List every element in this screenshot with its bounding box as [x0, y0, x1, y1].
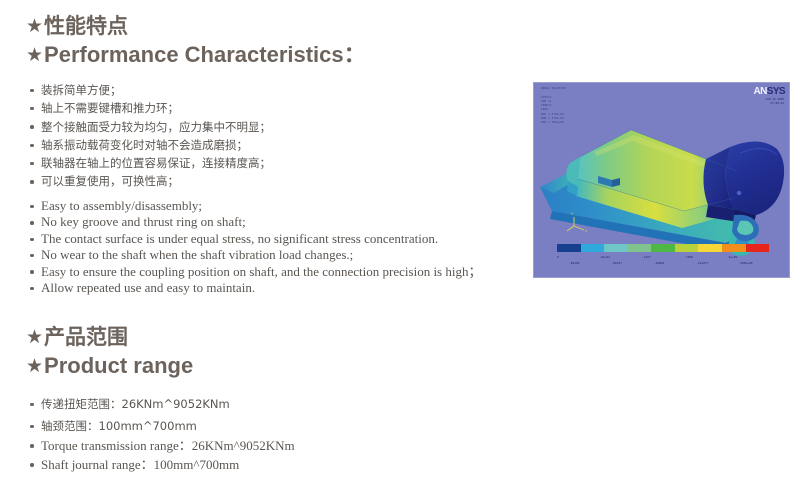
- ansys-logo: ANSYS: [754, 86, 785, 97]
- figure-colorbar: [557, 244, 769, 252]
- ansys-fea-figure: X Y NODAL SOLUTION STEP=1 SUB =1 TIME=1 …: [533, 82, 790, 278]
- figure-canvas: X Y NODAL SOLUTION STEP=1 SUB =1 TIME=1 …: [534, 83, 789, 277]
- colorbar-label: .1327: [642, 255, 684, 259]
- colorbar-band: [628, 244, 652, 252]
- figure-date-text: JUN 20 2009 07:08:44: [765, 97, 784, 106]
- list-item: No key groove and thrust ring on shaft;: [28, 214, 481, 230]
- list-item: 轴系振动载荷变化时对轴不会造成磨损；: [28, 136, 271, 154]
- colorbar-label: .82182: [569, 261, 611, 265]
- colorbar-label: .296e+09: [739, 261, 781, 265]
- list-item: 轴颈范围：100mm^700mm: [28, 415, 230, 437]
- star-icon: ★: [26, 327, 43, 349]
- colorbar-labels-high: .82182 .99147 .16842 .212277 .296e+09: [557, 261, 781, 265]
- list-item: 整个接触面受力较为均匀，应力集中不明显；: [28, 118, 271, 136]
- colorbar-label: .8e+03: [599, 255, 641, 259]
- list-item: Easy to assembly/disassembly;: [28, 198, 481, 214]
- product-range-heading-block: ★产品范围 ★Product range: [26, 325, 193, 378]
- list-item: Shaft journal range：100mm^700mm: [28, 455, 295, 474]
- colorbar-label: .2e+09: [727, 255, 769, 259]
- product-range-heading-en: ★Product range: [26, 353, 193, 378]
- performance-heading-cn-text: 性能特点: [44, 14, 128, 38]
- colorbar-label: .99147: [611, 261, 653, 265]
- colorbar-label: .16842: [654, 261, 696, 265]
- performance-bullets-en: Easy to assembly/disassembly; No key gro…: [28, 198, 481, 296]
- page-root: ★性能特点 ★Performance Characteristics： 装拆简单…: [0, 0, 811, 477]
- svg-text:Y: Y: [571, 212, 573, 216]
- performance-bullets-cn: 装拆简单方便； 轴上不需要键槽和推力环； 整个接触面受力较为均匀，应力集中不明显…: [28, 81, 271, 191]
- list-item: 装拆简单方便；: [28, 81, 271, 99]
- list-item: No wear to the shaft when the shaft vibr…: [28, 247, 481, 263]
- svg-text:X: X: [585, 229, 588, 233]
- product-range-heading-cn-text: 产品范围: [44, 325, 128, 349]
- star-icon: ★: [26, 16, 43, 38]
- colorbar-band: [698, 244, 722, 252]
- list-item: 可以重复使用，可换性高；: [28, 172, 271, 190]
- list-item: Torque transmission range：26KNm^9052KNm: [28, 436, 295, 455]
- product-range-bullets-en: Torque transmission range：26KNm^9052KNm …: [28, 436, 295, 474]
- product-range-bullets-cn: 传递扭矩范围：26KNm^9052KNm 轴颈范围：100mm^700mm: [28, 393, 230, 437]
- colorbar-labels-low: 0 .8e+03 .1327 .1999 .2e+09: [557, 255, 769, 259]
- colorbar-band: [675, 244, 699, 252]
- list-item: 联轴器在轴上的位置容易保证，连接精度高；: [28, 154, 271, 172]
- product-range-heading-cn: ★产品范围: [26, 325, 193, 349]
- star-icon: ★: [26, 45, 43, 67]
- colorbar-band: [581, 244, 605, 252]
- product-range-heading-en-text: Product range: [44, 353, 193, 378]
- list-item: Easy to ensure the coupling position on …: [28, 264, 481, 280]
- figure-header-text: NODAL SOLUTION STEP=1 SUB =1 TIME=1 SEQV…: [541, 87, 566, 126]
- colorbar-label: 0: [557, 255, 599, 259]
- list-item: 传递扭矩范围：26KNm^9052KNm: [28, 393, 230, 415]
- performance-heading-en: ★Performance Characteristics：: [26, 42, 366, 67]
- ansys-logo-first: AN: [754, 86, 767, 97]
- star-icon: ★: [26, 356, 43, 378]
- colorbar-band: [746, 244, 770, 252]
- list-item: Allow repeated use and easy to maintain.: [28, 280, 481, 296]
- colorbar-label: .1999: [684, 255, 726, 259]
- colorbar-band: [557, 244, 581, 252]
- colorbar-band: [722, 244, 746, 252]
- list-item: 轴上不需要键槽和推力环；: [28, 99, 271, 117]
- colorbar-label: .212277: [696, 261, 738, 265]
- performance-heading-cn: ★性能特点: [26, 14, 366, 38]
- performance-heading-block: ★性能特点 ★Performance Characteristics：: [26, 14, 366, 67]
- performance-heading-en-text: Performance Characteristics：: [44, 42, 366, 67]
- colorbar-band: [604, 244, 628, 252]
- list-item: The contact surface is under equal stres…: [28, 231, 481, 247]
- colorbar-band: [651, 244, 675, 252]
- ansys-logo-second: SYS: [767, 86, 785, 97]
